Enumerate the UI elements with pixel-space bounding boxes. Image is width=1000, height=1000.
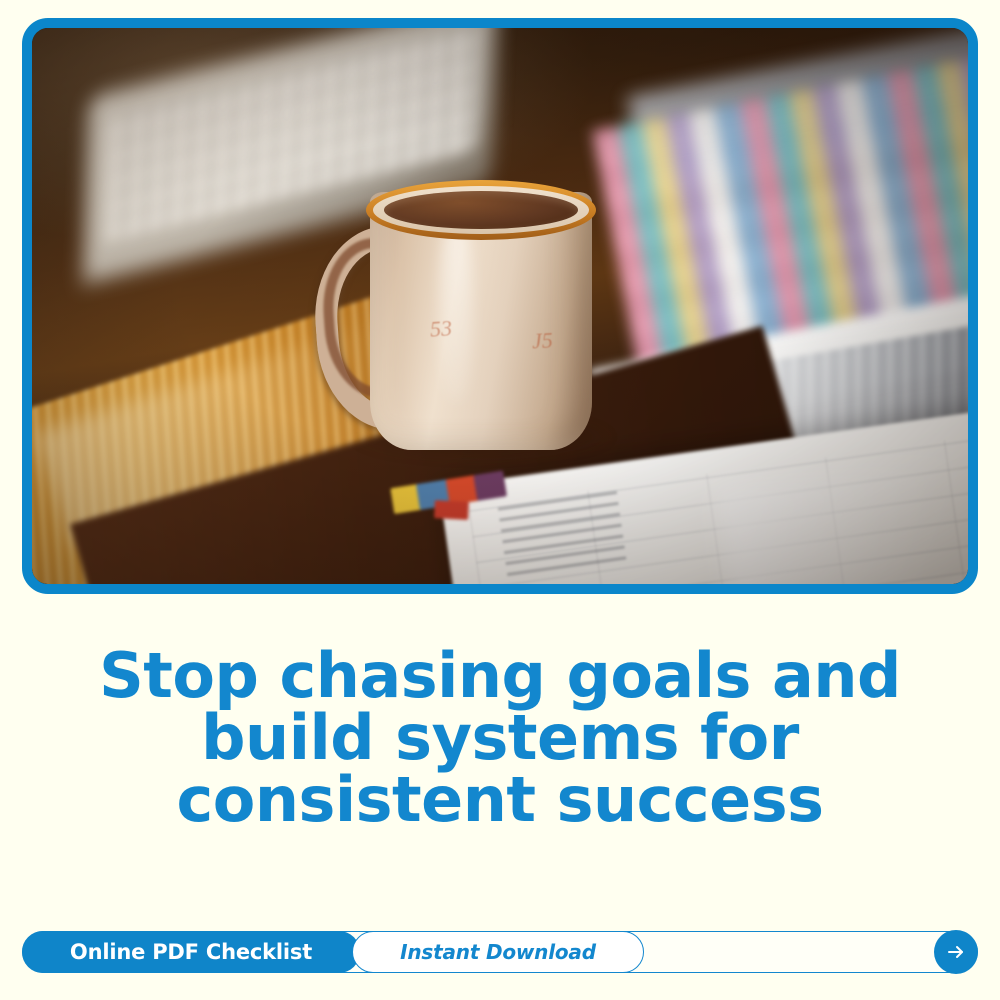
headline-line-1: Stop chasing goals and bbox=[60, 645, 940, 707]
photo-vignette bbox=[32, 28, 968, 584]
poster-canvas: 53 J5 Stop chasing goals and build syste… bbox=[0, 0, 1000, 1000]
arrow-right-button[interactable] bbox=[934, 930, 978, 974]
headline-line-3: consistent success bbox=[60, 769, 940, 831]
arrow-right-icon bbox=[944, 940, 968, 964]
cta-bar[interactable]: Online PDF Checklist Instant Download bbox=[22, 931, 978, 973]
headline: Stop chasing goals and build systems for… bbox=[60, 645, 940, 831]
cta-secondary-label: Instant Download bbox=[400, 940, 596, 964]
hero-photo: 53 J5 bbox=[32, 28, 968, 584]
instant-download-button[interactable]: Instant Download bbox=[352, 931, 644, 973]
headline-line-2: build systems for bbox=[60, 707, 940, 769]
cta-primary-label: Online PDF Checklist bbox=[70, 940, 312, 964]
photo-frame: 53 J5 bbox=[22, 18, 978, 594]
online-pdf-checklist-button[interactable]: Online PDF Checklist bbox=[22, 931, 360, 973]
